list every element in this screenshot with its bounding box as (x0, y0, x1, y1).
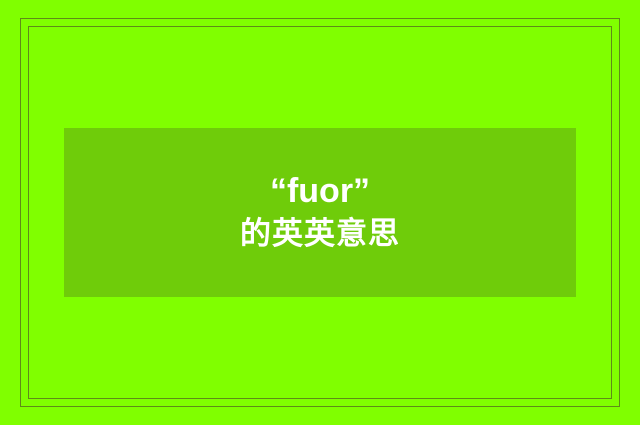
headline-panel: “fuor” 的英英意思 (64, 128, 576, 297)
headline-term: “fuor” (270, 174, 370, 210)
poster-canvas: “fuor” 的英英意思 (0, 0, 640, 425)
headline-subtitle: 的英英意思 (240, 218, 400, 251)
